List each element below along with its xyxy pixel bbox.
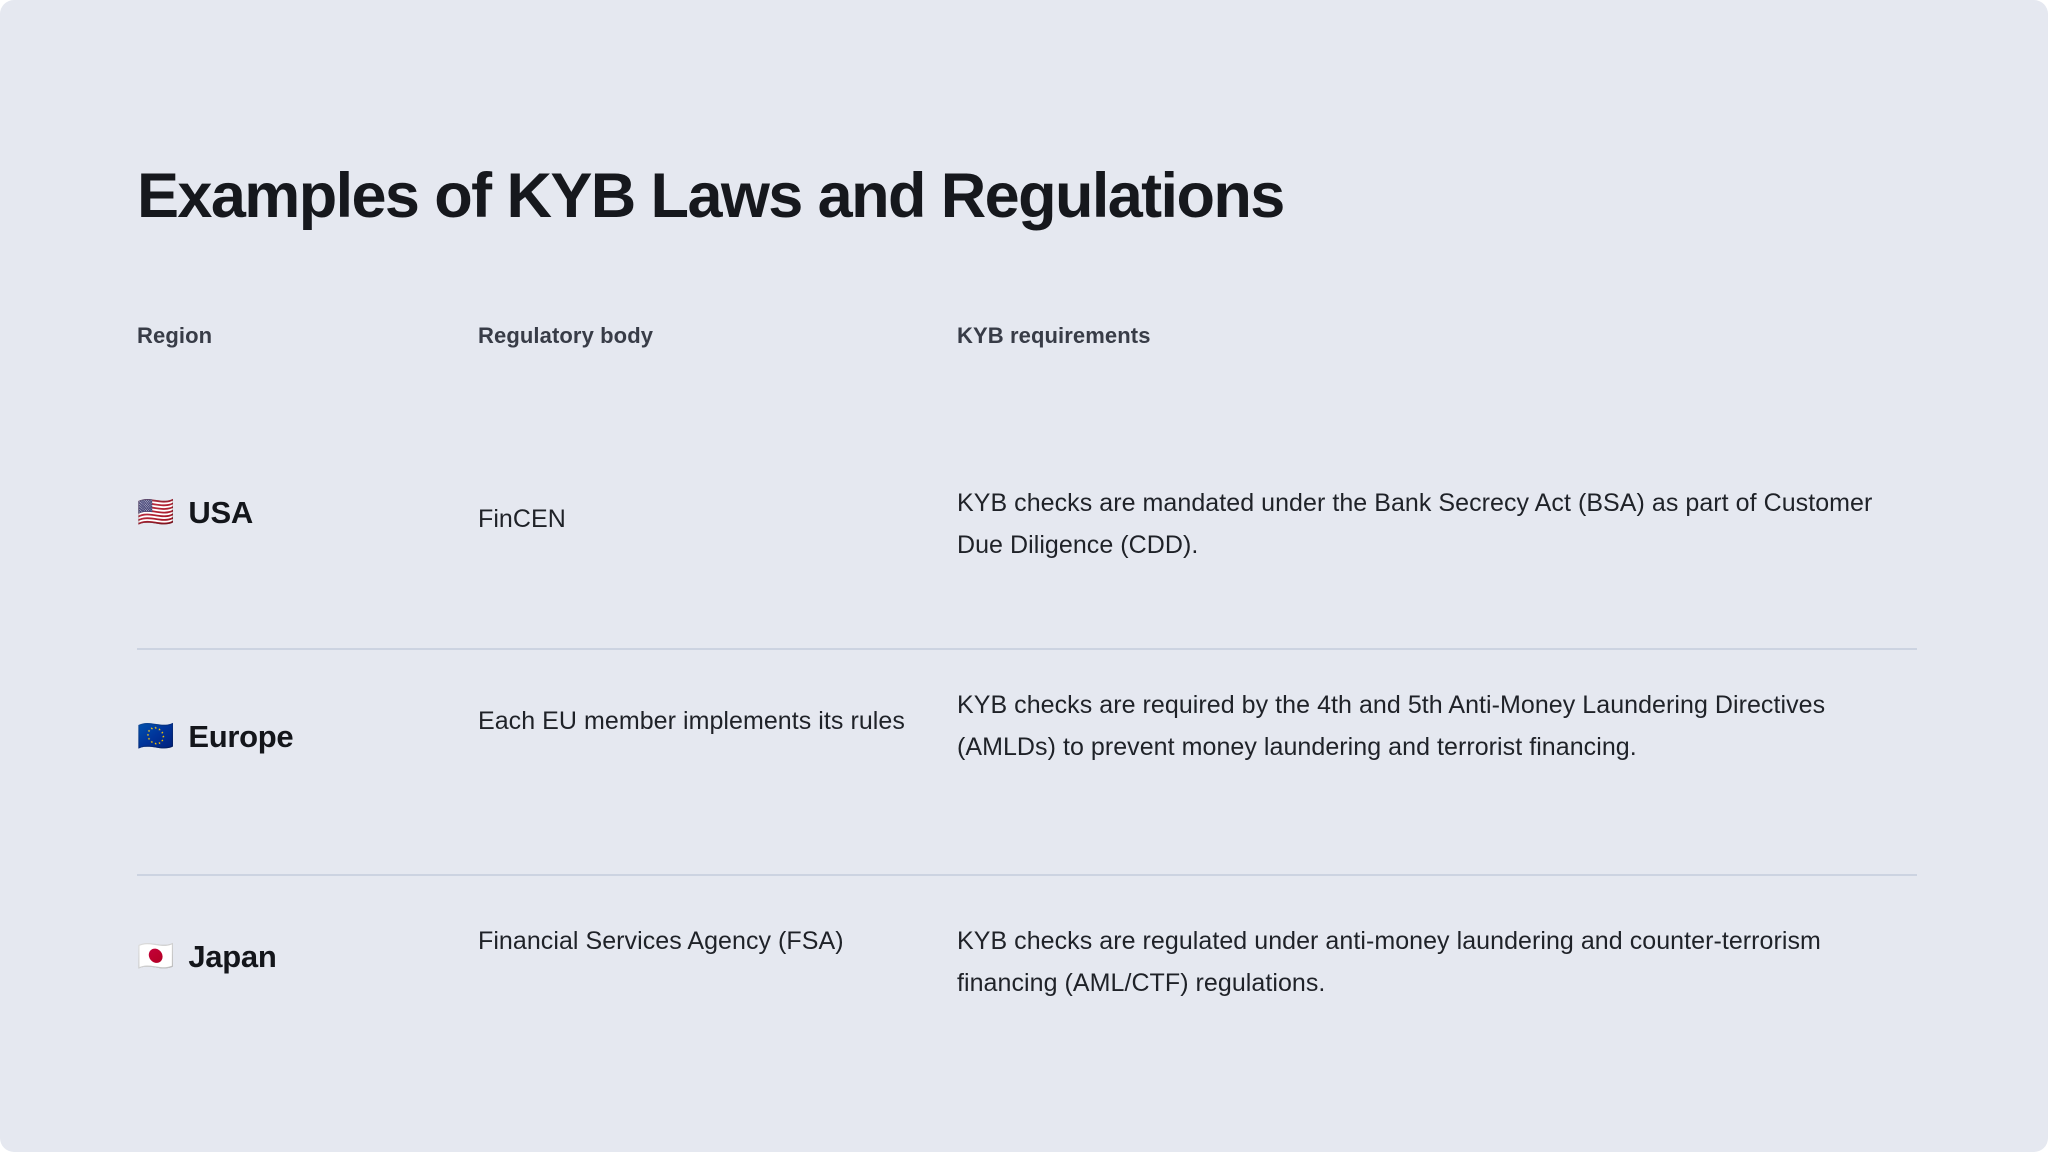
region-label: Europe [188, 718, 293, 756]
region-label: USA [188, 494, 253, 532]
page-canvas: Examples of KYB Laws and Regulations Reg… [0, 0, 2048, 1152]
column-header-kyb-requirements: KYB requirements [957, 322, 1151, 350]
cell-region: 🇪🇺 Europe [137, 718, 467, 756]
column-header-region: Region [137, 322, 212, 350]
cell-region: 🇯🇵 Japan [137, 938, 467, 976]
content-container: Examples of KYB Laws and Regulations Reg… [137, 0, 1917, 1152]
kyb-regulations-table: Region Regulatory body KYB requirements … [137, 322, 1917, 1104]
column-header-regulatory-body: Regulatory body [478, 322, 653, 350]
page-title: Examples of KYB Laws and Regulations [137, 159, 1927, 233]
flag-japan-icon: 🇯🇵 [137, 942, 174, 972]
cell-regulatory-body: FinCEN [478, 498, 938, 540]
cell-region: 🇺🇸 USA [137, 494, 467, 532]
table-row: 🇺🇸 USA FinCEN KYB checks are mandated un… [137, 374, 1917, 648]
table-row: 🇯🇵 Japan Financial Services Agency (FSA)… [137, 874, 1917, 1104]
table-body: 🇺🇸 USA FinCEN KYB checks are mandated un… [137, 374, 1917, 1104]
cell-kyb-requirements: KYB checks are mandated under the Bank S… [957, 482, 1897, 566]
cell-kyb-requirements: KYB checks are regulated under anti-mone… [957, 920, 1897, 1004]
flag-europe-icon: 🇪🇺 [137, 722, 174, 752]
cell-regulatory-body: Financial Services Agency (FSA) [478, 920, 938, 962]
table-header-row: Region Regulatory body KYB requirements [137, 322, 1917, 374]
cell-regulatory-body: Each EU member implements its rules [478, 700, 938, 742]
table-row: 🇪🇺 Europe Each EU member implements its … [137, 648, 1917, 874]
region-label: Japan [188, 938, 276, 976]
cell-kyb-requirements: KYB checks are required by the 4th and 5… [957, 684, 1897, 768]
flag-usa-icon: 🇺🇸 [137, 498, 174, 528]
